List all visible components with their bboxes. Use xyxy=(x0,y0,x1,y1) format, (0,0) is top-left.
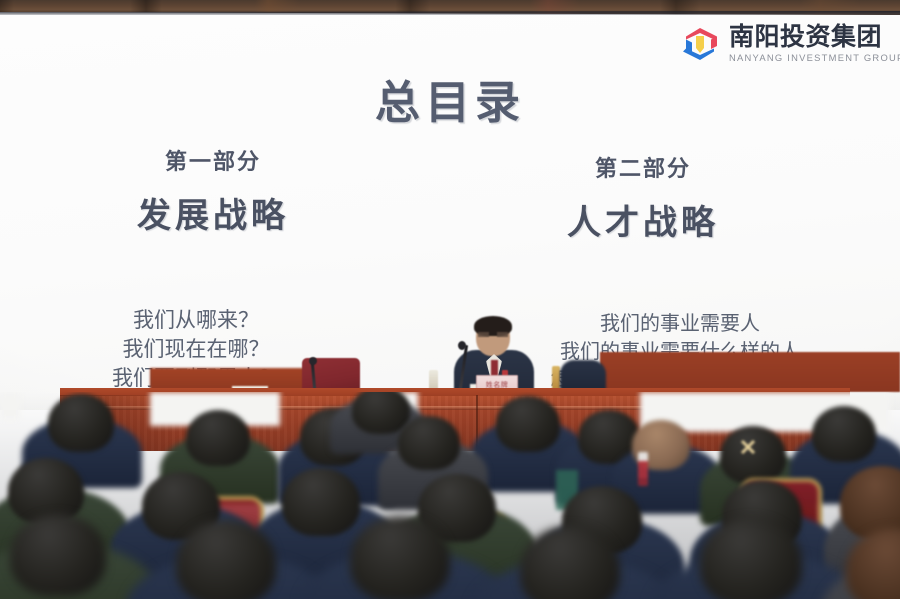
background-gap-4 xyxy=(0,392,20,420)
audience-head xyxy=(496,396,560,452)
audience-head xyxy=(48,394,114,452)
audience-head xyxy=(282,468,360,536)
audience-head xyxy=(812,406,876,462)
speaker-microphone-head xyxy=(458,341,466,350)
audience-head-front xyxy=(700,518,802,599)
section-one-part-label: 第一部分 xyxy=(48,150,378,176)
audience-area xyxy=(0,392,900,599)
back-wall-right xyxy=(600,352,900,392)
audience-head xyxy=(352,392,410,434)
audience-head xyxy=(720,426,786,484)
section-one: 第一部分 发展战略 xyxy=(48,150,378,237)
logo-chinese-name: 南阳投资集团 xyxy=(729,24,900,50)
section-two-part-label: 第二部分 xyxy=(478,157,808,183)
speaker-glasses xyxy=(478,332,508,337)
section-two: 第二部分 人才战略 xyxy=(478,157,808,244)
conference-presentation-screenshot: 南阳投资集团 NANYANG INVESTMENT GROUP 总目录 第一部分… xyxy=(0,0,900,599)
logo-english-name: NANYANG INVESTMENT GROUP xyxy=(729,53,900,63)
company-logo: 南阳投资集团 NANYANG INVESTMENT GROUP xyxy=(678,24,900,64)
section-one-line-2: 我们现在在哪？ xyxy=(46,335,346,364)
table-bottle xyxy=(552,366,560,390)
audience-head-front xyxy=(176,520,276,599)
hexagon-arrows-logo-icon xyxy=(678,24,722,64)
audience-head-front xyxy=(350,516,450,599)
slide-title: 总目录 xyxy=(0,66,900,131)
audience-head xyxy=(186,410,250,466)
audience-water-bottle xyxy=(638,452,648,486)
section-two-title: 人才战略 xyxy=(478,203,808,244)
audience-head xyxy=(398,416,460,470)
audience-head-front xyxy=(10,514,106,596)
left-microphone-head xyxy=(309,357,317,365)
section-two-line-1: 我们的事业需要人 xyxy=(480,310,880,338)
hair-clip-ornament xyxy=(740,440,756,454)
section-one-line-1: 我们从哪来？ xyxy=(46,306,346,335)
water-glass xyxy=(429,370,438,390)
section-one-title: 发展战略 xyxy=(48,196,378,237)
logo-text-group: 南阳投资集团 NANYANG INVESTMENT GROUP xyxy=(729,24,900,64)
